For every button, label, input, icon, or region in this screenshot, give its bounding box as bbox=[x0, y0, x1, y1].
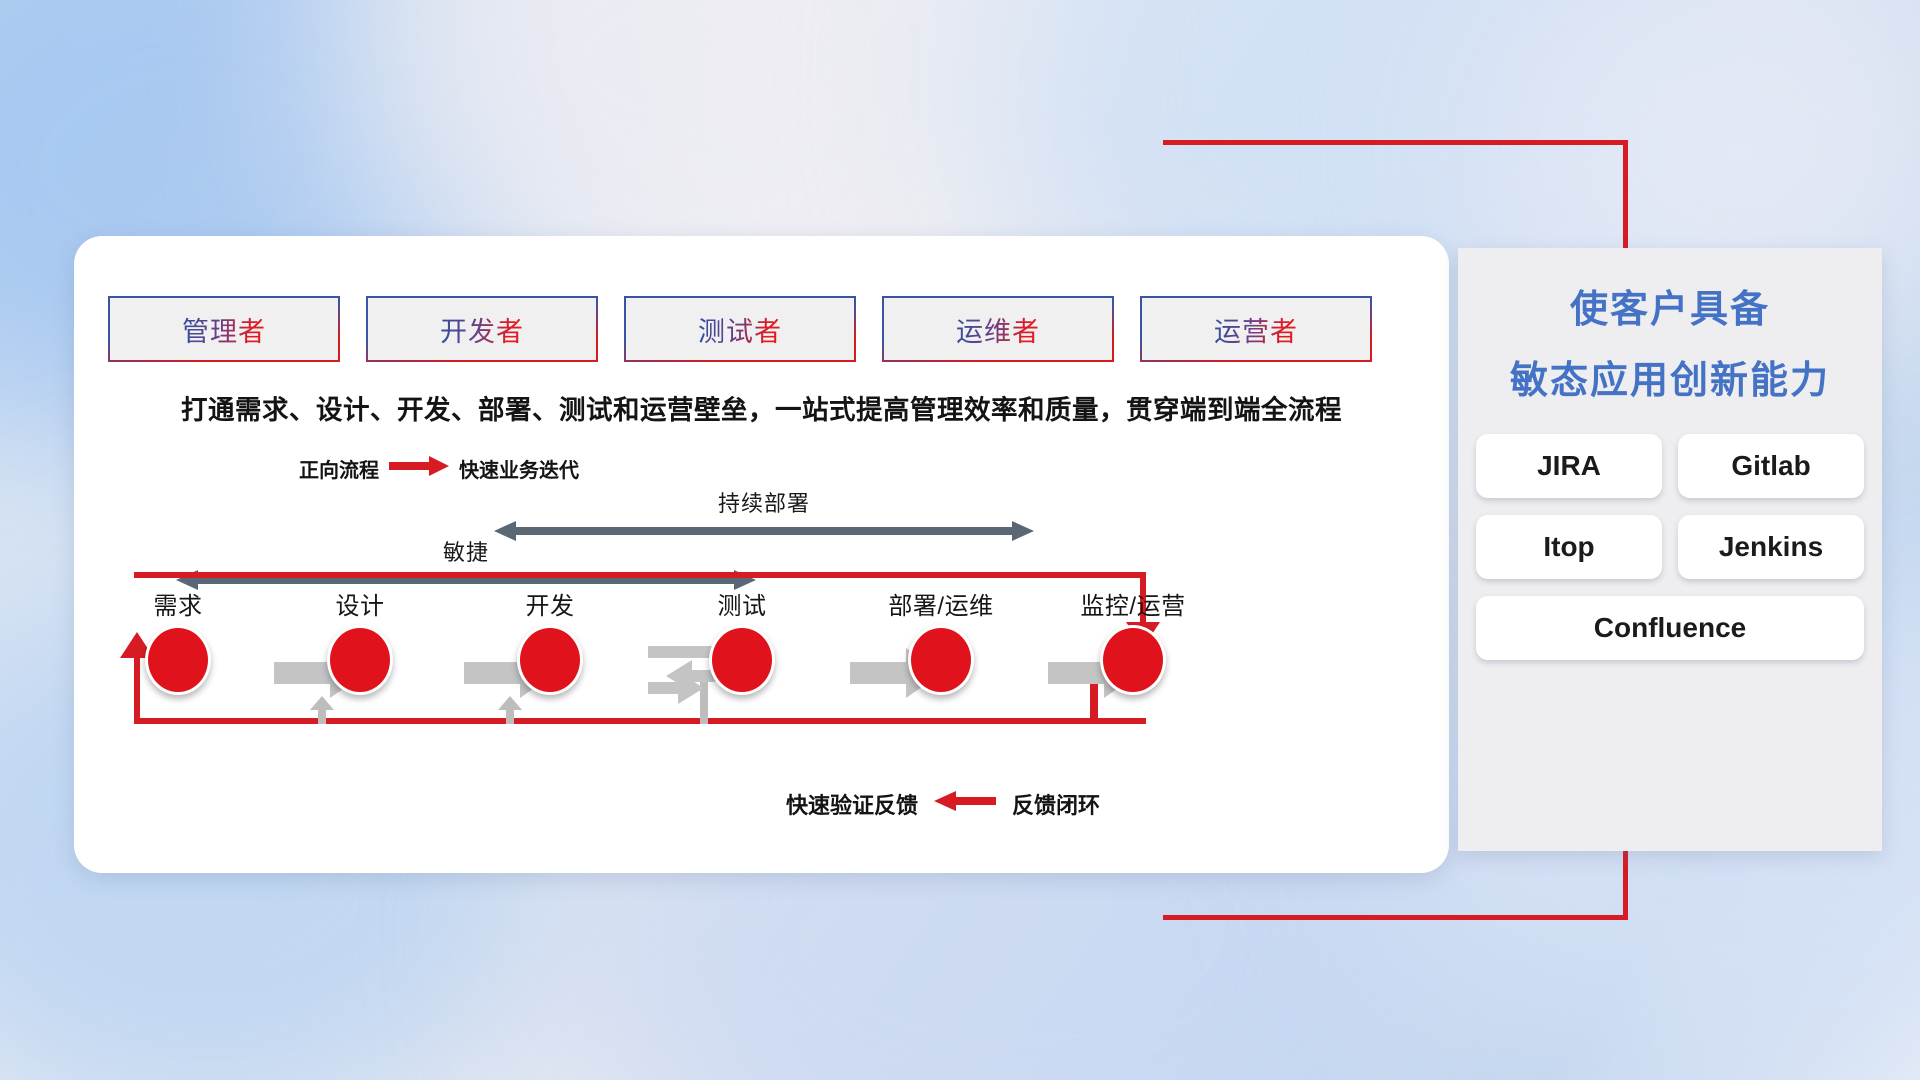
pipeline-description: 打通需求、设计、开发、部署、测试和运营壁垒，一站式提高管理效率和质量，贯穿端到端… bbox=[74, 388, 1449, 427]
feedback-right-label: 反馈闭环 bbox=[1012, 788, 1100, 820]
stage-test[interactable]: 测试 bbox=[656, 586, 828, 695]
role-box-row: 管理者 开发者 测试者 运维者 运营者 bbox=[108, 296, 1372, 362]
role-label: 开发者 bbox=[440, 310, 524, 349]
tool-button-jenkins[interactable]: Jenkins bbox=[1678, 515, 1864, 579]
role-box-developer[interactable]: 开发者 bbox=[366, 296, 598, 362]
stage-monitor-operations[interactable]: 监控/运营 bbox=[1038, 586, 1228, 695]
feedback-legend: 快速验证反馈 反馈闭环 bbox=[786, 788, 1100, 820]
tool-button-itop[interactable]: Itop bbox=[1476, 515, 1662, 579]
tool-button-jira[interactable]: JIRA bbox=[1476, 434, 1662, 498]
tool-button-confluence[interactable]: Confluence bbox=[1476, 596, 1864, 660]
stage-dot bbox=[709, 625, 775, 695]
role-label: 测试者 bbox=[698, 310, 782, 349]
arrow-right-red-icon bbox=[389, 456, 449, 482]
stage-label: 设计 bbox=[274, 586, 446, 621]
role-label: 运维者 bbox=[956, 310, 1040, 349]
stage-requirement[interactable]: 需求 bbox=[108, 586, 248, 695]
arrow-left-red-icon bbox=[934, 791, 996, 817]
stage-deploy-ops[interactable]: 部署/运维 bbox=[846, 586, 1036, 695]
stage-dot bbox=[327, 625, 393, 695]
stage-dot bbox=[1100, 625, 1166, 695]
stage-design[interactable]: 设计 bbox=[274, 586, 446, 695]
stage-develop[interactable]: 开发 bbox=[464, 586, 636, 695]
role-label: 运营者 bbox=[1214, 310, 1298, 349]
stage-dot bbox=[145, 625, 211, 695]
stage-label: 部署/运维 bbox=[846, 586, 1036, 621]
span-label: 敏捷 bbox=[176, 535, 756, 567]
forward-flow-left-label: 正向流程 bbox=[299, 454, 379, 483]
panel-title-line2: 敏态应用创新能力 bbox=[1458, 349, 1882, 404]
span-label: 持续部署 bbox=[494, 486, 1034, 518]
devops-pipeline-card: 管理者 开发者 测试者 运维者 运营者 打通需求、设计、开发、部署、测试和运营壁… bbox=[74, 236, 1449, 873]
loop-line-top bbox=[134, 572, 1146, 578]
stage-label: 监控/运营 bbox=[1038, 586, 1228, 621]
role-box-operations[interactable]: 运营者 bbox=[1140, 296, 1372, 362]
panel-title-line1: 使客户具备 bbox=[1458, 278, 1882, 333]
forward-flow-right-label: 快速业务迭代 bbox=[459, 454, 579, 483]
tool-button-gitlab[interactable]: Gitlab bbox=[1678, 434, 1864, 498]
tool-list: JIRA Gitlab Itop Jenkins Confluence bbox=[1476, 434, 1864, 660]
stage-dot bbox=[908, 625, 974, 695]
role-label: 管理者 bbox=[182, 310, 266, 349]
value-proposition-panel: 使客户具备 敏态应用创新能力 JIRA Gitlab Itop Jenkins … bbox=[1458, 248, 1882, 851]
role-box-tester[interactable]: 测试者 bbox=[624, 296, 856, 362]
stage-dot bbox=[517, 625, 583, 695]
stage-label: 开发 bbox=[464, 586, 636, 621]
forward-flow-legend: 正向流程 快速业务迭代 bbox=[299, 454, 579, 483]
role-box-ops[interactable]: 运维者 bbox=[882, 296, 1114, 362]
pipeline-stage-row: 需求 设计 开发 测试 部署/运维 bbox=[108, 586, 1408, 736]
role-box-manager[interactable]: 管理者 bbox=[108, 296, 340, 362]
feedback-left-label: 快速验证反馈 bbox=[786, 788, 918, 820]
stage-label: 测试 bbox=[656, 586, 828, 621]
panel-title: 使客户具备 敏态应用创新能力 bbox=[1458, 278, 1882, 404]
stage-label: 需求 bbox=[108, 586, 248, 621]
